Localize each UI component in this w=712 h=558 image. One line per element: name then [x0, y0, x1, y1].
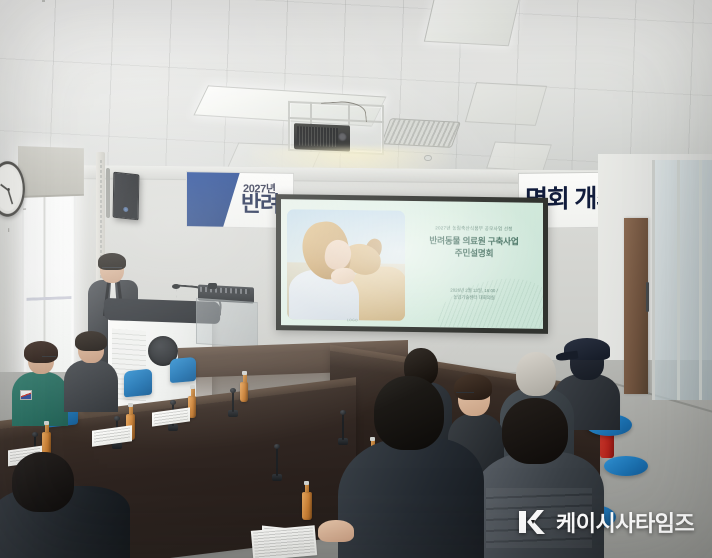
printed-handout [251, 525, 317, 558]
slide-title-line-2: 주민설명회 [413, 247, 535, 260]
attendee-foreground-bottom-left [0, 452, 130, 558]
table-microphone-head [32, 432, 38, 437]
speaker-led [123, 207, 128, 213]
attendee-head [374, 376, 444, 450]
attendee-jacket [338, 438, 484, 558]
attendee-glasses [42, 356, 56, 360]
handout-text-lines [94, 427, 130, 444]
window-mullion [27, 296, 72, 301]
wall-speaker-left [113, 172, 140, 221]
attendee-foreground-left [338, 376, 484, 558]
slide-text-block: 2027년 농림축산식품부 공모사업 선정 반려동물 의료원 구축사업 주민설명… [413, 225, 535, 260]
slide-photo-woman-and-dog [287, 209, 405, 321]
projector-vent-grille [297, 126, 338, 147]
beverage-bottle [302, 492, 312, 520]
ceiling-light-panel [424, 0, 522, 46]
av-camera [208, 283, 217, 289]
clock-tick [23, 209, 26, 210]
clock-minute-hand [8, 190, 14, 205]
window-roller-blind [18, 146, 84, 198]
attendee-hair [75, 331, 107, 351]
slide-meta: 2026년 2월 13일, 16:00 / 농업기술센터 대회의실 [413, 287, 535, 302]
chair[interactable] [124, 369, 152, 398]
table-microphone-head [170, 400, 176, 405]
projection-screen: 2027년 농림축산식품부 공모사업 선정 반려동물 의료원 구축사업 주민설명… [276, 194, 548, 334]
clock-center-pin [7, 188, 9, 191]
handout-text-lines [253, 527, 315, 558]
attendee-seated [64, 334, 118, 410]
ceiling-light-panel [486, 141, 552, 171]
handout-text-lines [154, 410, 188, 425]
attendee-head [502, 398, 568, 464]
banner-title-text: 반려 [241, 193, 279, 216]
slide-eyebrow: 2027년 농림축산식품부 공모사업 선정 [413, 225, 535, 233]
clock-tick [8, 228, 9, 232]
table-microphone-head [114, 416, 120, 421]
projection-screen-surface: 2027년 농림축산식품부 공모사업 선정 반려동물 의료원 구축사업 주민설명… [281, 199, 543, 329]
k-logo-mark [518, 507, 548, 537]
slide-corner-logo: LOGO [347, 318, 358, 322]
korean-flag-badge [20, 390, 32, 400]
attendee-jacket [64, 360, 118, 412]
table-microphone-stem [276, 448, 278, 476]
photograph-conference-room: 2027년 반려 명회 개최 [0, 0, 712, 558]
attendee-hand [318, 520, 354, 542]
av-rack-cabinet [196, 298, 258, 348]
podium-microphone-head [172, 284, 180, 289]
projector-mount [42, 0, 45, 2]
door-mullion [677, 160, 680, 400]
watermark: 케이시사타임즈 [518, 506, 694, 538]
ceiling-projector [288, 101, 384, 155]
slide-meta-location: 농업기술센터 대회의실 [413, 294, 535, 302]
banner-blue-graphic [186, 171, 243, 229]
presenter-glasses [102, 267, 122, 271]
clock-face [0, 166, 20, 211]
chair-seat[interactable] [604, 456, 648, 476]
table-microphone-stem [232, 392, 234, 412]
speaker-bracket [106, 168, 110, 218]
door-handle[interactable] [646, 282, 649, 312]
door-frame [624, 218, 648, 394]
projector-lens [338, 132, 347, 141]
attendee-head [12, 452, 74, 512]
air-vent [381, 118, 461, 148]
attendee-head-grey-hair [516, 352, 556, 396]
table-microphone-head [230, 388, 236, 393]
ceiling-sensor [424, 155, 432, 161]
glass-entry-door[interactable] [652, 160, 712, 400]
ceiling-light-panel [465, 82, 547, 126]
attendee-seated [12, 344, 68, 424]
table-microphone-head [274, 444, 280, 449]
door-mullion [699, 160, 702, 400]
watermark-text: 케이시사타임즈 [556, 506, 694, 538]
chair[interactable] [170, 357, 196, 383]
beverage-bottle [240, 382, 248, 402]
